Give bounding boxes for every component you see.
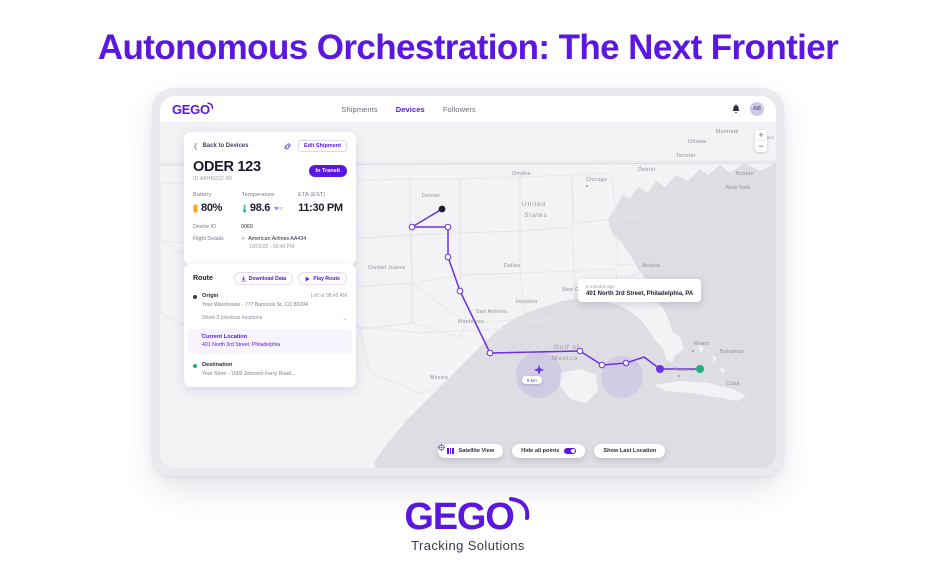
hide-all-points-toggle[interactable]: Hide all points	[512, 444, 585, 459]
satellite-view-label: Satellite View	[459, 448, 495, 454]
eta-value: 11:30 PM	[298, 202, 343, 214]
temperature-label: Temperature	[242, 192, 298, 198]
zoom-in-button[interactable]: +	[755, 130, 767, 141]
temperature-unit-toggle[interactable]: °F/°C	[274, 206, 283, 211]
order-identity: ODER 123 ID ABHM322 RK	[193, 159, 261, 182]
toggle-switch[interactable]	[564, 448, 576, 455]
route-title: Route	[193, 275, 213, 282]
route-actions: Download Data Play Route	[234, 272, 347, 285]
battery-icon	[193, 204, 198, 213]
bell-icon[interactable]	[731, 104, 741, 115]
destination-address: Your Store - 1000 Johnson Ferry Road...	[202, 371, 347, 377]
city-dot	[586, 185, 588, 187]
destination-cluster-halo[interactable]	[601, 356, 643, 398]
app-header: GEGO Shipments Devices Followers AB	[160, 96, 776, 123]
detail-row-flight: Flight Details ✈ American Airlines AA434…	[193, 236, 347, 250]
avatar[interactable]: AB	[750, 102, 764, 116]
back-to-devices-button[interactable]: ❮ Back to Devices	[193, 142, 248, 150]
order-title: ODER 123	[193, 159, 261, 175]
route-stop-origin[interactable]: Origin Left at 08:45 AM Your Warehouse -…	[193, 293, 347, 308]
show-last-location-label: Show Last Location	[603, 448, 656, 454]
play-route-label: Play Route	[313, 276, 340, 282]
show-previous-label: Show 3 previous locations	[202, 315, 262, 321]
unit-celsius[interactable]: °C	[279, 206, 283, 211]
gego-footer-logo-text: GEGO	[404, 498, 513, 536]
shipment-info-card: ❮ Back to Devices Edit Shipment ODER 123…	[184, 132, 356, 265]
plane-icon: ✈	[241, 236, 245, 242]
satellite-view-button[interactable]: Satellite View	[438, 444, 503, 459]
map-zoom-control[interactable]: + −	[755, 130, 767, 152]
order-id: ID ABHM322 RK	[193, 176, 261, 182]
signal-arc-icon	[508, 496, 532, 522]
map-tooltip[interactable]: 5 minutes ago 401 North 3rd Street, Phil…	[578, 279, 701, 302]
signal-arc-icon	[207, 102, 214, 110]
cluster-distance-label: 6 km	[522, 376, 542, 384]
download-data-button[interactable]: Download Data	[234, 272, 293, 285]
detail-row-device-id: Device ID 0060	[193, 224, 347, 230]
destination-dot-icon	[193, 364, 197, 368]
app-header-actions: AB	[731, 102, 764, 116]
route-stop-destination[interactable]: Destination Your Store - 1000 Johnson Fe…	[193, 362, 347, 377]
tooltip-time: 5 minutes ago	[586, 284, 693, 289]
origin-address: Your Warehouse - 777 Bannock St, CO 8020…	[202, 302, 347, 308]
battery-value-row: 80%	[193, 202, 242, 214]
destination-label: Destination	[202, 362, 347, 368]
route-card-header: Route Download Data Play Route	[193, 272, 347, 285]
detail-rows: Device ID 0060 Flight Details ✈ American…	[193, 224, 347, 250]
info-card-header: ❮ Back to Devices Edit Shipment	[193, 140, 347, 152]
show-previous-locations-button[interactable]: Show 3 previous locations ⌄	[193, 315, 347, 322]
gego-logo[interactable]: GEGO	[172, 103, 214, 116]
current-location-address: 401 North 3rd Street, Philadelphia	[202, 342, 347, 348]
origin-label: Origin	[202, 293, 218, 299]
city-dot	[692, 350, 694, 352]
order-title-row: ODER 123 ID ABHM322 RK In Transit	[193, 159, 347, 182]
flight-details-value-wrap: ✈ American Airlines AA434 10/01/22 - 09:…	[241, 236, 306, 250]
origin-head: Origin Left at 08:45 AM	[202, 293, 347, 299]
page-title: Autonomous Orchestration: The Next Front…	[0, 28, 936, 68]
metric-eta: ETA (EST) 11:30 PM	[298, 192, 347, 214]
flight-name: American Airlines AA434	[248, 236, 306, 242]
show-last-location-button[interactable]: Show Last Location	[594, 444, 665, 459]
target-icon	[438, 444, 445, 451]
status-badge: In Transit	[309, 165, 347, 177]
satellite-icon	[447, 448, 454, 454]
current-location-label: Current Location	[202, 334, 347, 340]
flight-details-label: Flight Details	[193, 236, 241, 250]
play-route-button[interactable]: Play Route	[298, 272, 347, 285]
nav-devices[interactable]: Devices	[396, 105, 425, 114]
metrics-row: Battery 80% Temperature	[193, 192, 347, 214]
chevron-left-icon: ❮	[193, 142, 198, 150]
gego-footer-logo: GEGO	[404, 498, 531, 536]
metric-battery: Battery 80%	[193, 192, 242, 214]
edit-shipment-button[interactable]: Edit Shipment	[298, 140, 347, 152]
eta-value-row: 11:30 PM	[298, 202, 347, 214]
nav-followers[interactable]: Followers	[443, 105, 476, 114]
flight-line: ✈ American Airlines AA434	[241, 236, 306, 242]
tablet-screen: GEGO Shipments Devices Followers AB	[160, 96, 776, 468]
chevron-down-icon: ⌄	[342, 315, 347, 322]
city-dot	[678, 375, 680, 377]
thermometer-icon	[242, 204, 247, 213]
metric-temperature: Temperature 98.6 °F/°C	[242, 192, 298, 214]
plane-cluster-icon[interactable]	[533, 364, 545, 376]
route-card: Route Download Data Play Route	[184, 264, 356, 387]
download-icon	[241, 276, 246, 282]
eta-label: ETA (EST)	[298, 192, 347, 198]
info-card-actions: Edit Shipment	[283, 140, 347, 152]
map-controls: Satellite View Hide all points Show Last…	[438, 444, 665, 459]
device-id-label: Device ID	[193, 224, 241, 230]
temperature-value: 98.6	[250, 202, 270, 214]
main-nav: Shipments Devices Followers	[341, 105, 475, 114]
battery-label: Battery	[193, 192, 242, 198]
tooltip-address: 401 North 3rd Street, Philadelphia, PA	[586, 291, 693, 297]
gego-logo-text: GEGO	[172, 103, 210, 116]
tablet-frame: GEGO Shipments Devices Followers AB	[152, 88, 784, 476]
route-stop-current[interactable]: Current Location 401 North 3rd Street, P…	[188, 329, 352, 355]
device-id-value: 0060	[241, 224, 253, 230]
origin-time: Left at 08:45 AM	[311, 293, 347, 299]
origin-dot-icon	[193, 295, 197, 299]
nav-shipments[interactable]: Shipments	[341, 105, 377, 114]
flight-datetime: 10/01/22 - 09:45 PM	[249, 244, 306, 250]
footer-branding: GEGO Tracking Solutions	[0, 498, 936, 553]
link-icon[interactable]	[283, 142, 292, 151]
play-icon	[305, 276, 310, 282]
battery-value: 80%	[201, 202, 222, 214]
zoom-out-button[interactable]: −	[755, 141, 767, 152]
temperature-value-row: 98.6 °F/°C	[242, 202, 298, 214]
back-to-devices-label: Back to Devices	[202, 143, 248, 149]
hide-all-points-label: Hide all points	[521, 448, 559, 454]
download-data-label: Download Data	[249, 276, 286, 282]
footer-tagline: Tracking Solutions	[0, 538, 936, 553]
